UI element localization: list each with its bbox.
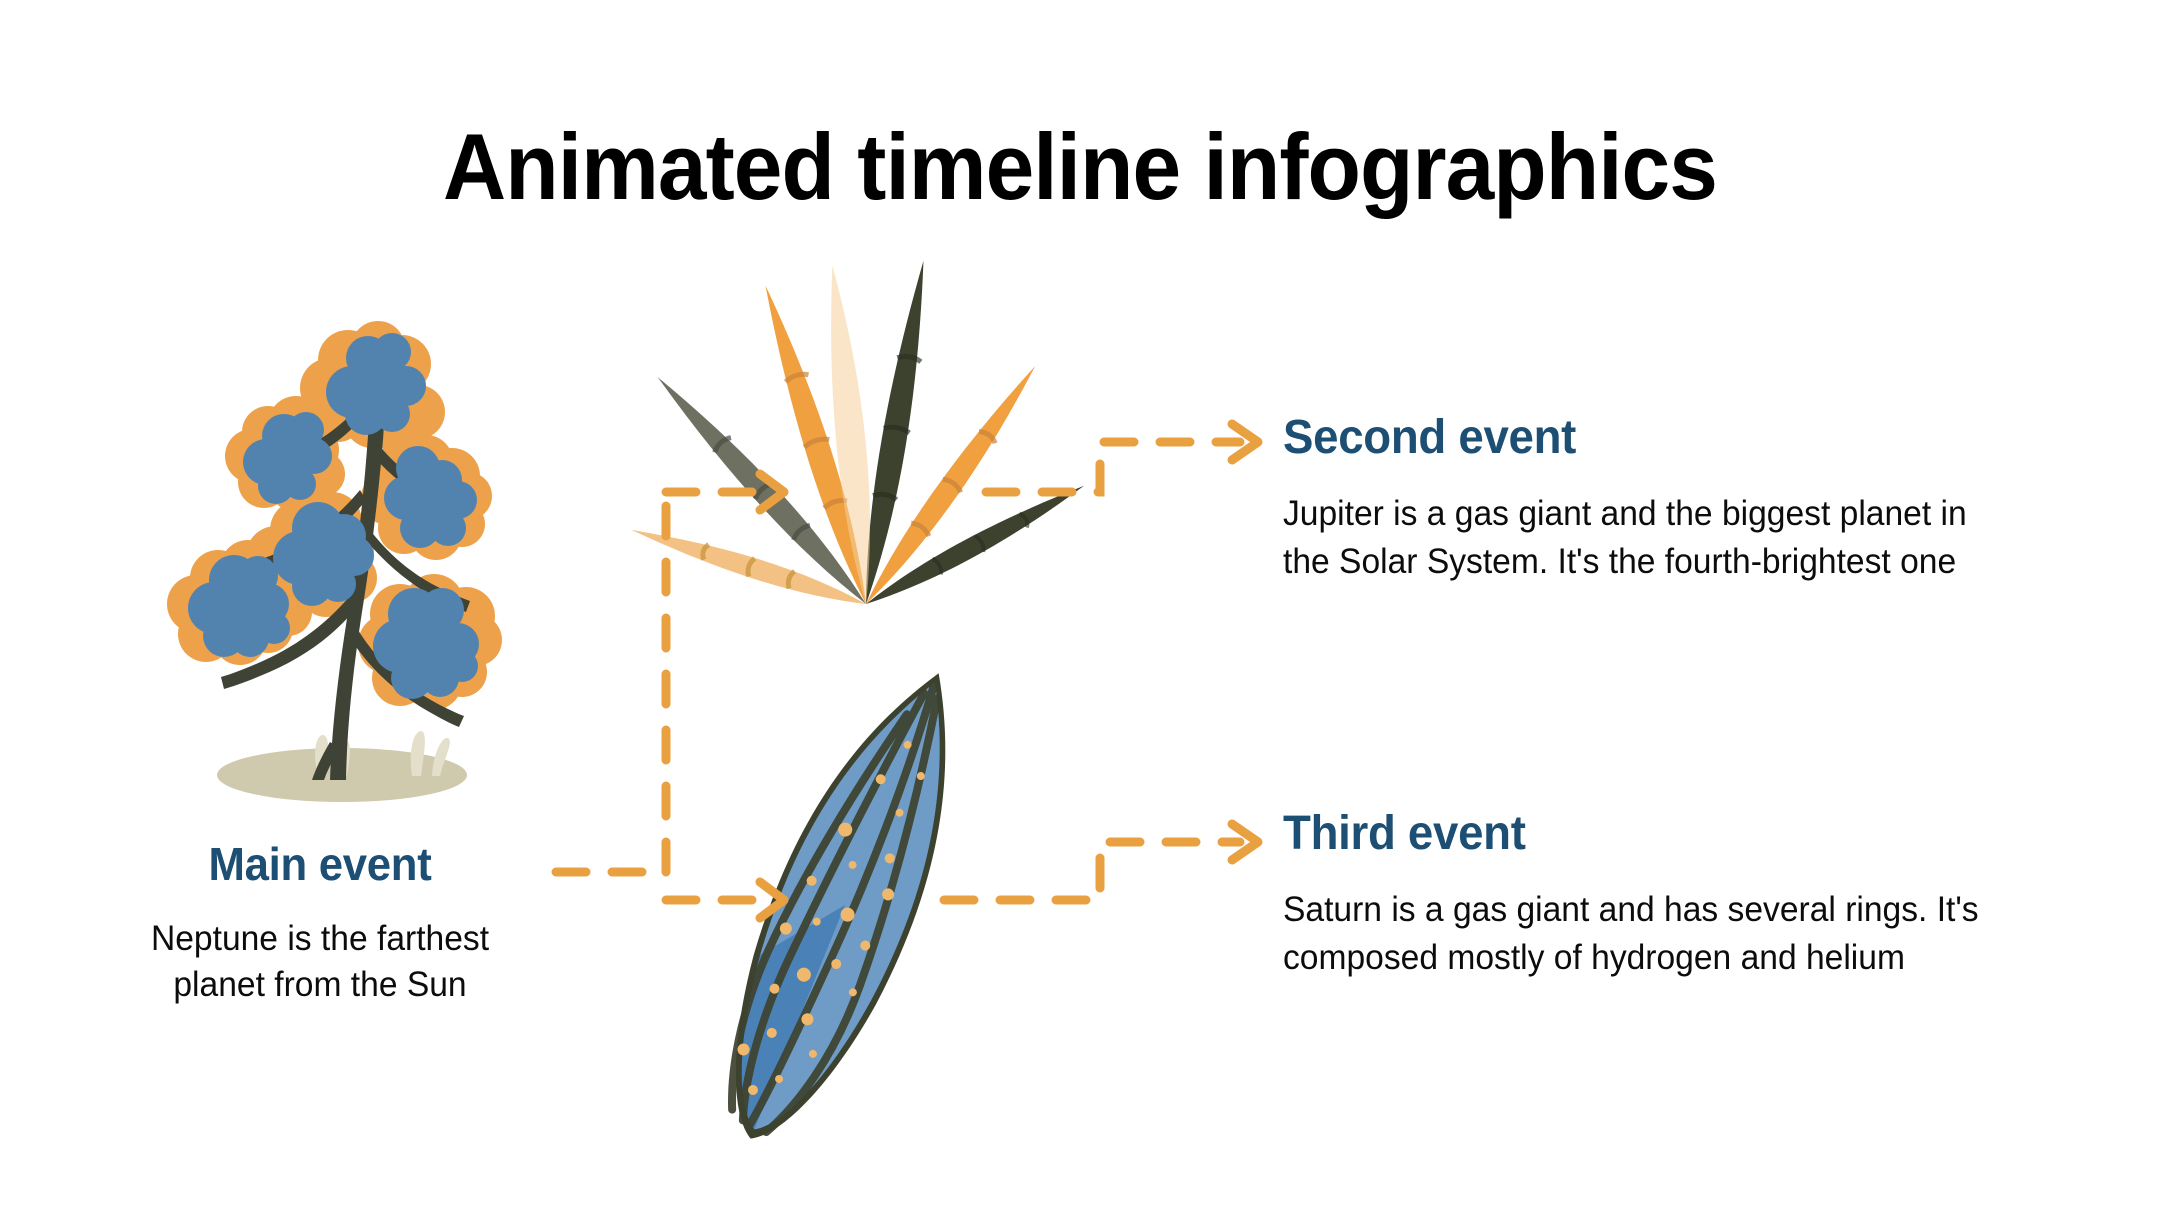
page-title: Animated timeline infographics: [76, 118, 2085, 217]
tree-trunk-and-branches: [221, 366, 470, 780]
tree-foliage-blue: [188, 333, 479, 699]
third-event-body: Saturn is a gas giant and has several ri…: [1283, 886, 2022, 983]
tree-grass-tufts: [315, 731, 450, 776]
arrowhead-to-second-event-icon: [1232, 424, 1258, 460]
tree-foliage-orange: [167, 321, 502, 710]
connector-third-illustration-to-text: [944, 842, 1240, 900]
main-event-block: Main event Neptune is the farthest plane…: [110, 840, 530, 1008]
main-event-body: Neptune is the farthest planet from the …: [118, 916, 521, 1008]
blue-leaf-illustration: [686, 647, 1003, 1165]
third-event-heading: Third event: [1283, 808, 2015, 860]
main-event-heading: Main event: [121, 840, 520, 890]
second-event-body: Jupiter is a gas giant and the biggest p…: [1283, 490, 2022, 587]
arrowhead-to-third-event-icon: [1232, 824, 1258, 860]
second-event-block: Second event Jupiter is a gas giant and …: [1283, 412, 2053, 586]
leaf-fan-illustration: [629, 259, 1090, 614]
second-event-heading: Second event: [1283, 412, 2015, 464]
arrowhead-to-third-illustration-icon: [760, 882, 784, 918]
arrowhead-to-second-illustration-icon: [760, 474, 784, 510]
leaf-speckles: [718, 722, 952, 1117]
tree-ground-ellipse: [217, 748, 467, 802]
slide-canvas: Animated timeline infographics: [0, 0, 2160, 1215]
connector-second-illustration-to-text: [986, 442, 1240, 492]
autumn-tree-illustration: [167, 321, 502, 802]
third-event-block: Third event Saturn is a gas giant and ha…: [1283, 808, 2053, 982]
